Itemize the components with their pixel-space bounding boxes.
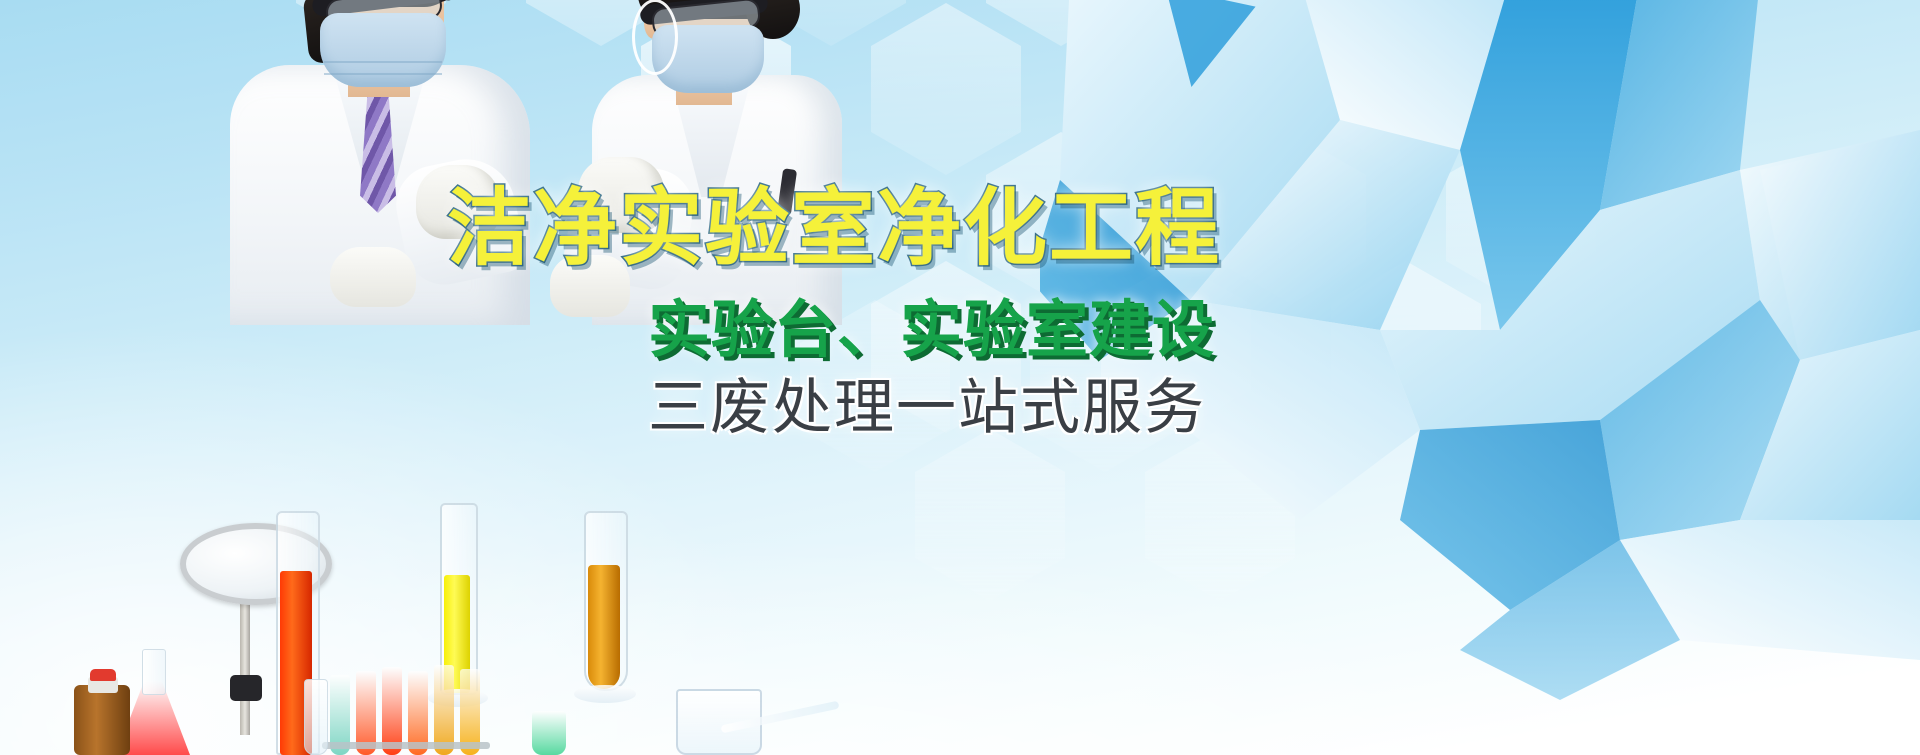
crystal-accent-arrow — [1146, 0, 1255, 97]
promo-banner: 洁净实验室净化工程 实验台、实验室建设 三废处理一站式服务 — [0, 0, 1920, 755]
crystal-facet-pattern — [1040, 0, 1920, 640]
reagent-bottle-brown — [74, 685, 130, 755]
hexagon-shape — [1331, 3, 1481, 175]
hexagon-shape — [1145, 429, 1295, 601]
green-flask — [532, 711, 566, 755]
magnifier-clamp — [230, 675, 262, 701]
face-mask — [320, 13, 446, 87]
amber-liquid — [588, 565, 620, 689]
hexagon-shape — [800, 300, 950, 472]
hexagon-shape — [1101, 261, 1251, 433]
gloved-hand — [416, 165, 500, 239]
lab-scientists-photo — [80, 325, 820, 755]
hexagon-shape — [1446, 132, 1596, 304]
bottle-cap — [90, 669, 116, 681]
gloved-hand — [578, 157, 664, 233]
crystal-svg — [1040, 0, 1920, 700]
flask-neck — [142, 649, 166, 695]
test-tube-base — [574, 685, 636, 703]
hexagon-shape — [871, 3, 1021, 175]
hexagon-shape — [986, 0, 1136, 46]
mask-pleat — [324, 73, 442, 75]
gloved-hand-lower — [550, 255, 630, 317]
mask-earloop — [632, 0, 678, 75]
rack-frame — [322, 742, 490, 749]
clear-test-tube — [304, 679, 328, 755]
hexagon-shape — [986, 132, 1136, 304]
gloved-hand-lower — [330, 247, 416, 307]
hexagon-shape — [915, 429, 1065, 601]
mask-pleat — [324, 61, 442, 63]
hexagon-shape — [871, 261, 1021, 433]
test-tube-rack — [326, 669, 516, 755]
hexagon-shape — [1216, 132, 1366, 304]
hexagon-shape — [1331, 261, 1481, 433]
hexagon-shape — [1030, 300, 1180, 472]
